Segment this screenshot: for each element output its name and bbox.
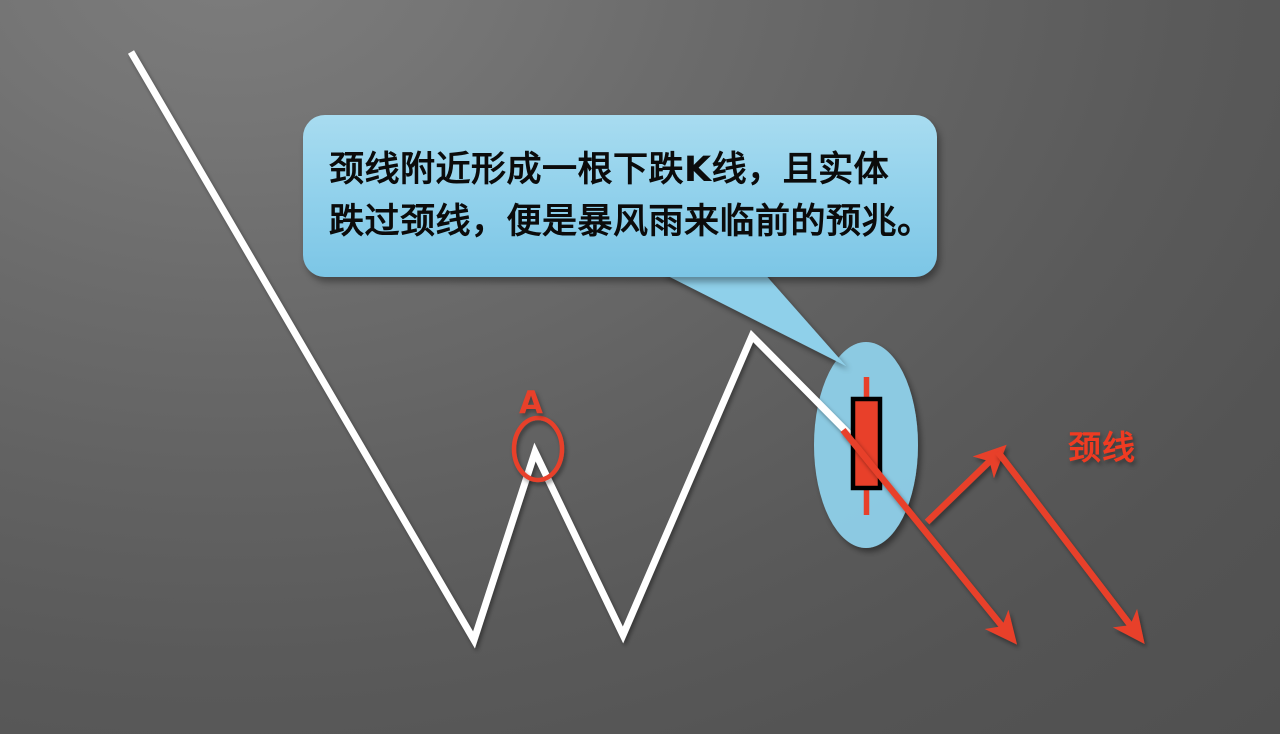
chart-svg [0, 0, 1280, 734]
pullback-rally-arrow [927, 457, 994, 522]
callout-tail [660, 272, 846, 366]
annotation-callout: 颈线附近形成一根下跌K线，且实体 跌过颈线，便是暴风雨来临前的预兆。 [303, 115, 937, 277]
figure-canvas: 颈线附近形成一根下跌K线，且实体 跌过颈线，便是暴风雨来临前的预兆。 颈线 A [0, 0, 1280, 734]
neckline-label: 颈线 [1068, 421, 1136, 469]
breakdown-arrow-2 [998, 452, 1134, 630]
callout-line-2: 跌过颈线，便是暴风雨来临前的预兆。 [329, 196, 911, 248]
callout-line-1: 颈线附近形成一根下跌K线，且实体 [329, 144, 911, 196]
point-a-label: A [519, 385, 543, 421]
